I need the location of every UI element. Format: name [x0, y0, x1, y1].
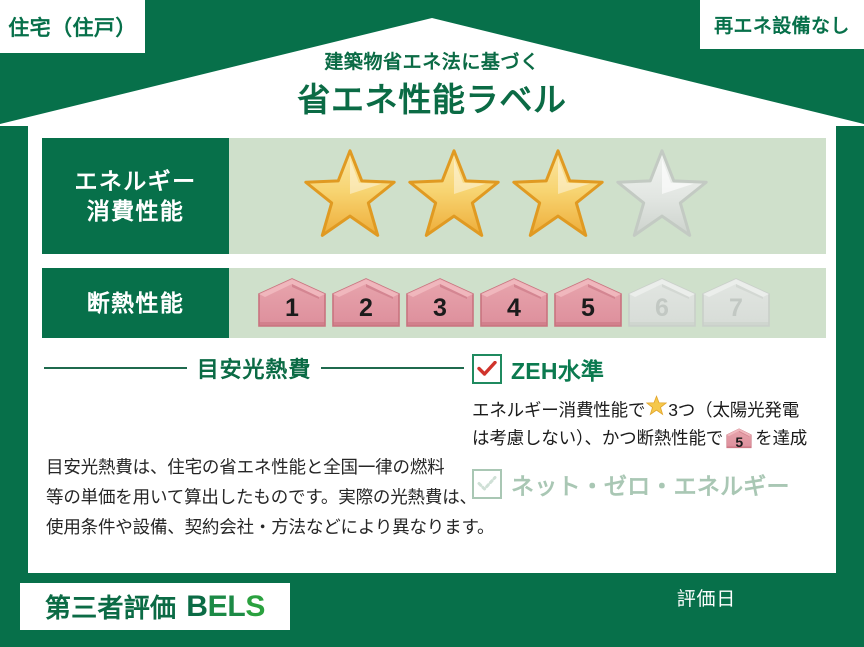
- zeh-description-line2-pre: は考慮しない）、かつ断熱性能で: [472, 424, 723, 452]
- bels-letter-l: L: [227, 590, 245, 623]
- insulation-level-number: 4: [479, 294, 549, 323]
- star-empty-icon: [613, 147, 711, 246]
- insulation-level-number: 7: [701, 294, 771, 323]
- heading-rule-right: [321, 367, 464, 369]
- bels-japanese-label: 第三者評価: [45, 588, 176, 625]
- energy-performance-row: エネルギー 消費性能: [42, 138, 826, 254]
- energy-performance-label-line1: エネルギー: [75, 166, 197, 196]
- zeh-standard-row: ZEH水準: [472, 352, 832, 386]
- star-filled-icon: [301, 147, 399, 246]
- utility-cost-note-line-1: 目安光熱費は、住宅の省エネ性能と全国一律の燃料: [46, 452, 458, 482]
- label-subtitle: 建築物省エネ法に基づく: [0, 52, 864, 75]
- inline-insulation-level-chip: 5: [726, 428, 752, 449]
- net-zero-energy-row: ネット・ゼロ・エネルギー: [472, 467, 832, 501]
- zeh-block: ZEH水準 エネルギー消費性能で 3つ（太陽光発電 は考慮しない）、かつ断熱性能…: [472, 352, 832, 501]
- zeh-description-line-2: は考慮しない）、かつ断熱性能で 5 を達成: [472, 424, 832, 452]
- evaluation-date-label: 評価日: [677, 584, 736, 611]
- insulation-level-number: 6: [627, 294, 697, 323]
- star-filled-icon: [509, 147, 607, 246]
- utility-cost-heading-text: 目安光熱費: [197, 352, 311, 384]
- label-card: エネルギー 消費性能 断熱性能 1234567 目安光熱費 目安光熱費は、住宅の…: [22, 130, 842, 565]
- zeh-description-pre: エネルギー消費性能で: [472, 396, 645, 424]
- building-type-badge-label: 住宅（住戸）: [8, 12, 137, 42]
- heading-rule-left: [44, 367, 187, 369]
- zeh-description-line-1: エネルギー消費性能で 3つ（太陽光発電: [472, 395, 832, 424]
- energy-performance-label-line2: 消費性能: [87, 196, 185, 226]
- inline-star-icon: [646, 395, 667, 424]
- net-zero-energy-title: ネット・ゼロ・エネルギー: [511, 467, 790, 501]
- insulation-level-chip: 7: [701, 277, 771, 329]
- insulation-level-chip: 3: [405, 277, 475, 329]
- bels-letter-e: E: [208, 590, 228, 623]
- page-title: 省エネ性能ラベル: [0, 79, 864, 120]
- star-filled-icon: [405, 147, 503, 246]
- energy-star-rating: [229, 138, 826, 254]
- inline-level-number: 5: [726, 431, 752, 454]
- insulation-level-chip: 6: [627, 277, 697, 329]
- zeh-standard-title: ZEH水準: [511, 352, 604, 386]
- utility-cost-heading: 目安光熱費: [44, 352, 464, 384]
- insulation-level-chip: 2: [331, 277, 401, 329]
- insulation-level-number: 2: [331, 294, 401, 323]
- insulation-performance-label: 断熱性能: [42, 268, 229, 338]
- insulation-level-number: 3: [405, 294, 475, 323]
- renewable-equipment-badge-label: 再エネ設備なし: [714, 11, 850, 38]
- seine-performance-label: 住宅（住戸） 再エネ設備なし 建築物省エネ法に基づく 省エネ性能ラベル エネルギ…: [0, 0, 864, 647]
- net-zero-checkbox-unchecked-icon: [472, 469, 502, 499]
- utility-cost-note: 目安光熱費は、住宅の省エネ性能と全国一律の燃料 等の単価を用いて算出したものです…: [46, 452, 458, 542]
- insulation-level-chip: 5: [553, 277, 623, 329]
- utility-cost-note-line-2: 等の単価を用いて算出したものです。実際の光熱費は、: [46, 482, 458, 512]
- bels-letter-b: B: [186, 590, 207, 623]
- insulation-level-chip: 4: [479, 277, 549, 329]
- bels-third-party-badge: 第三者評価 BELS: [20, 583, 290, 630]
- insulation-level-chip: 1: [257, 277, 327, 329]
- zeh-checkbox-checked-icon: [472, 354, 502, 384]
- zeh-standard-description: エネルギー消費性能で 3つ（太陽光発電 は考慮しない）、かつ断熱性能で 5 を達…: [472, 395, 832, 453]
- building-type-badge: 住宅（住戸）: [0, 0, 145, 53]
- energy-performance-label: エネルギー 消費性能: [42, 138, 229, 254]
- insulation-level-scale: 1234567: [229, 268, 826, 338]
- insulation-level-number: 5: [553, 294, 623, 323]
- insulation-performance-row: 断熱性能 1234567: [42, 268, 826, 338]
- renewable-equipment-badge: 再エネ設備なし: [700, 0, 864, 49]
- insulation-performance-label-text: 断熱性能: [87, 288, 185, 318]
- bels-wordmark: BELS: [186, 590, 265, 624]
- label-title-block: 建築物省エネ法に基づく 省エネ性能ラベル: [0, 52, 864, 120]
- utility-cost-note-line-3: 使用条件や設備、契約会社・方法などにより異なります。: [46, 512, 458, 542]
- zeh-description-mid: 3つ（太陽光発電: [668, 396, 799, 424]
- bels-letter-s: S: [245, 590, 265, 623]
- zeh-description-line2-post: を達成: [755, 424, 807, 452]
- insulation-level-number: 1: [257, 294, 327, 323]
